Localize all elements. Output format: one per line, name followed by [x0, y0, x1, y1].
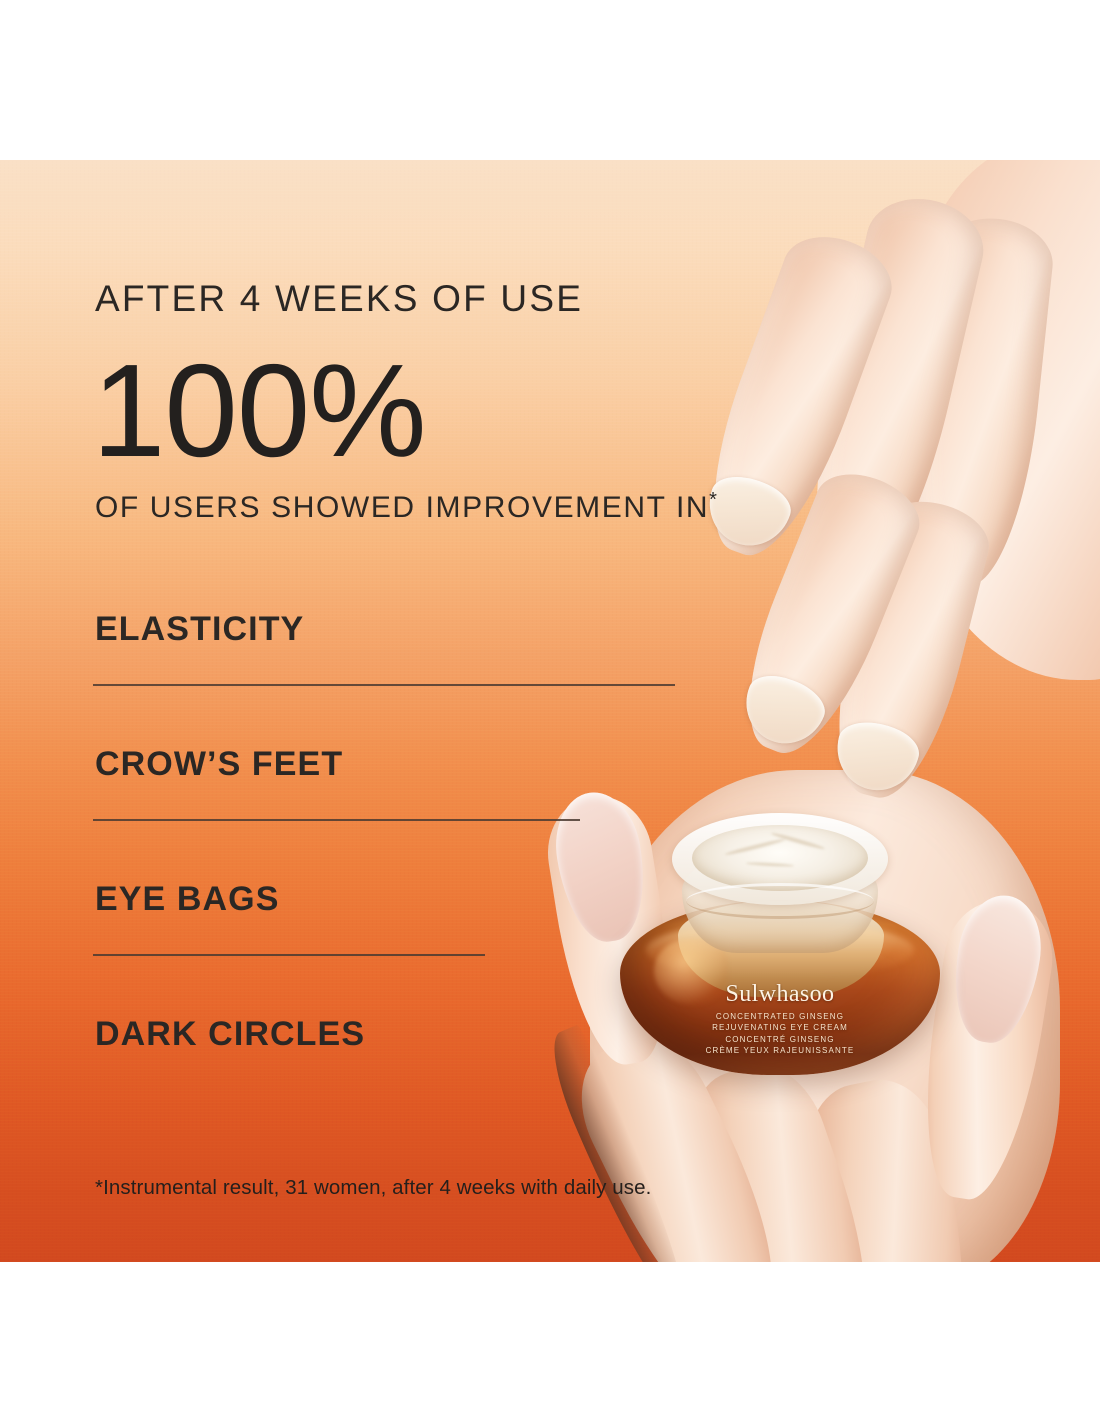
footnote-text: *Instrumental result, 31 women, after 4 …	[95, 1178, 651, 1199]
benefit-divider	[93, 954, 485, 956]
benefit-label: DARK CIRCLES	[95, 1017, 365, 1051]
benefit-item: DARK CIRCLES	[0, 995, 1100, 1130]
benefit-item: CROW’S FEET	[0, 725, 1100, 860]
footnote-marker: *	[709, 489, 717, 511]
stat-description: OF USERS SHOWED IMPROVEMENT IN*	[95, 490, 717, 523]
benefit-label: ELASTICITY	[95, 612, 304, 646]
benefit-label: CROW’S FEET	[95, 747, 343, 781]
promo-image: Sulwhasoo CONCENTRATED GINSENG REJUVENAT…	[0, 0, 1100, 1422]
benefit-item: EYE BAGS	[0, 860, 1100, 995]
benefits-list: ELASTICITY CROW’S FEET EYE BAGS DARK CIR…	[0, 590, 1100, 1130]
benefit-divider	[93, 819, 580, 821]
benefit-label: EYE BAGS	[95, 882, 280, 916]
benefit-item: ELASTICITY	[0, 590, 1100, 725]
stat-description-text: OF USERS SHOWED IMPROVEMENT IN	[95, 491, 709, 524]
eyebrow-headline: AFTER 4 WEEKS OF USE	[95, 280, 583, 317]
gradient-background: Sulwhasoo CONCENTRATED GINSENG REJUVENAT…	[0, 160, 1100, 1262]
benefit-divider	[93, 684, 675, 686]
stat-value: 100%	[92, 345, 426, 477]
